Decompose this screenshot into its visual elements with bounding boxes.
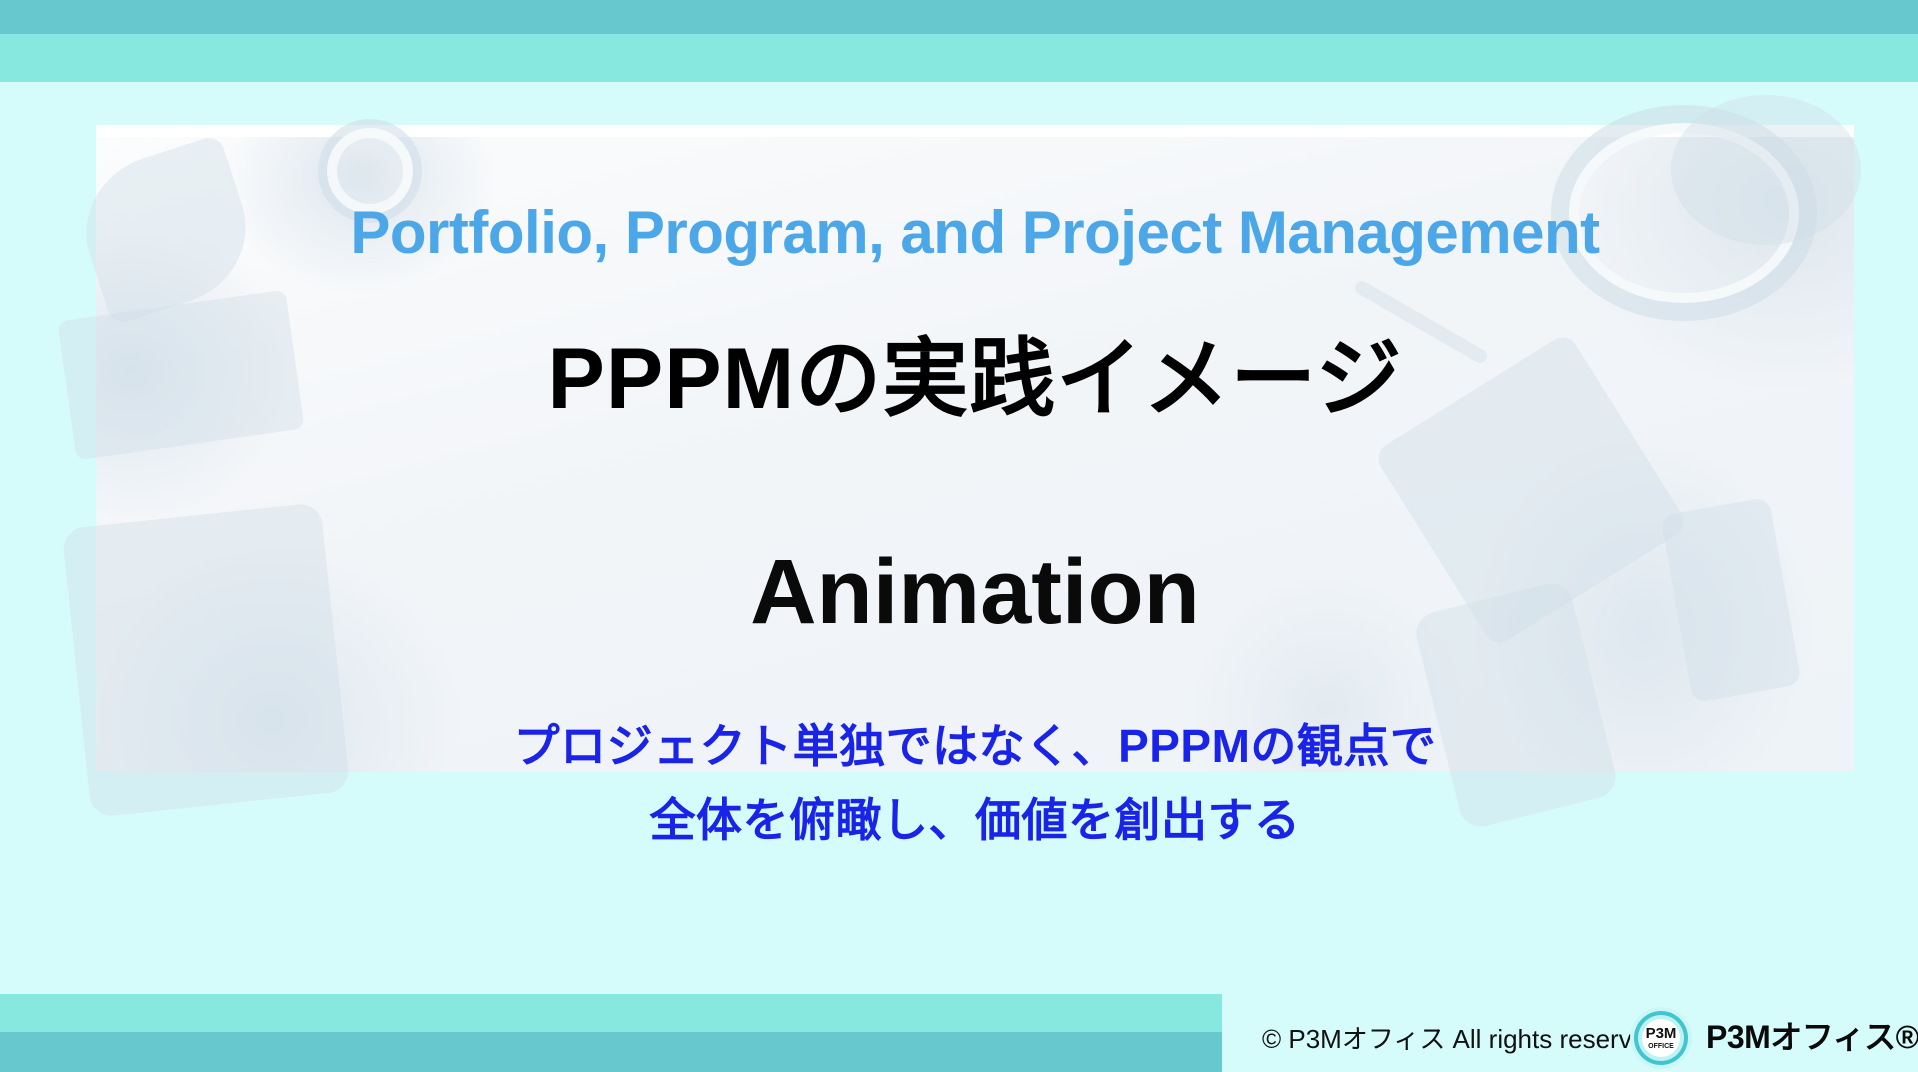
slide-root: Portfolio, Program, and Project Manageme… <box>0 0 1918 1072</box>
logo-secondary-text: OFFICE <box>1648 1043 1674 1050</box>
top-band-aqua <box>0 34 1918 82</box>
logo-primary-text: P3M <box>1646 1026 1677 1041</box>
logo-ring-outer: P3M OFFICE <box>1634 1011 1688 1065</box>
page-title-japanese: PPPMの実践イメージ <box>96 308 1854 433</box>
subtitle-block: プロジェクト単独ではなく、PPPMの観点で 全体を俯瞰し、価値を創出する <box>96 710 1854 857</box>
brand-name-label: P3Mオフィス® <box>1706 1012 1918 1058</box>
bottom-band-dark-teal <box>0 1032 1222 1072</box>
logo-core: P3M OFFICE <box>1642 1019 1680 1057</box>
bottom-band-aqua <box>0 994 1222 1032</box>
logo-ring-inner: P3M OFFICE <box>1638 1015 1684 1061</box>
subtitle-line-2: 全体を俯瞰し、価値を創出する <box>96 784 1854 858</box>
eyebrow-heading: Portfolio, Program, and Project Manageme… <box>96 198 1854 267</box>
p3m-office-logo-icon: P3M OFFICE <box>1630 1007 1692 1069</box>
copyright-text: © P3Mオフィス All rights reserved <box>1262 1019 1661 1056</box>
top-band-dark-teal <box>0 0 1918 34</box>
page-title-english: Animation <box>96 540 1854 645</box>
subtitle-line-1: プロジェクト単独ではなく、PPPMの観点で <box>96 710 1854 784</box>
